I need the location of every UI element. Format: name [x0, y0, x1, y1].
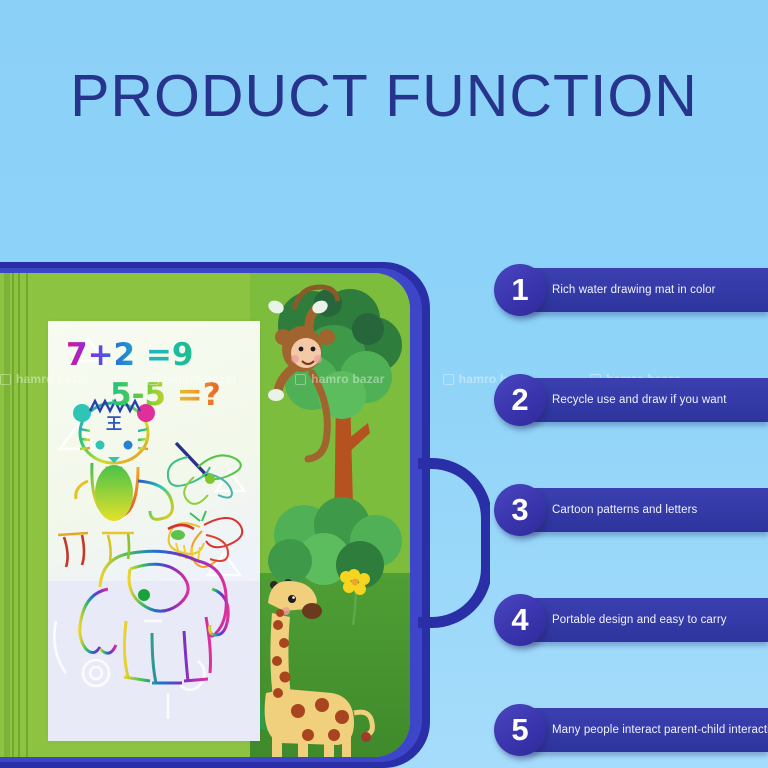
feature-row[interactable]: 3 Cartoon patterns and letters	[492, 488, 768, 534]
feature-row[interactable]: 4 Portable design and easy to carry	[492, 598, 768, 644]
feature-label: Recycle use and draw if you want	[552, 378, 764, 422]
feature-number-badge: 5	[494, 704, 546, 756]
spine-line	[12, 273, 14, 757]
spine-line	[18, 273, 20, 757]
product-photo: 王	[0, 262, 490, 768]
feature-number-badge: 3	[494, 484, 546, 536]
jungle-scene	[250, 273, 410, 757]
butterfly-drawing	[169, 511, 243, 567]
equation-top: 7+2 =9	[66, 337, 193, 373]
flower-illustration	[340, 569, 370, 625]
drawing-mat-cover: 王	[0, 273, 410, 757]
spine-line	[26, 273, 28, 757]
feature-label: Cartoon patterns and letters	[552, 488, 764, 532]
jungle-illustration-svg	[250, 273, 410, 757]
feature-row[interactable]: 1 Rich water drawing mat in color	[492, 268, 768, 314]
feature-label: Rich water drawing mat in color	[552, 268, 764, 312]
carry-handle	[418, 458, 490, 628]
spine-band	[4, 273, 10, 757]
elephant-eye	[138, 589, 150, 601]
feature-label: Many people interact parent-child intera…	[552, 708, 764, 752]
drawing-sheet: 王	[48, 321, 260, 741]
feature-row[interactable]: 5 Many people interact parent-child inte…	[492, 708, 768, 754]
feature-label: Portable design and easy to carry	[552, 598, 764, 642]
svg-text:王: 王	[106, 414, 122, 433]
equation-bottom: 5-5 =?	[110, 377, 221, 413]
feature-number-badge: 4	[494, 594, 546, 646]
bush-illustration	[268, 497, 402, 589]
feature-row[interactable]: 2 Recycle use and draw if you want	[492, 378, 768, 424]
page-title: PRODUCT FUNCTION	[0, 62, 768, 130]
elephant-drawing	[80, 551, 228, 683]
feature-number-badge: 1	[494, 264, 546, 316]
feature-list: 1 Rich water drawing mat in color 2 Recy…	[492, 268, 768, 768]
tiger-drawing: 王	[73, 401, 173, 521]
feature-number-badge: 2	[494, 374, 546, 426]
